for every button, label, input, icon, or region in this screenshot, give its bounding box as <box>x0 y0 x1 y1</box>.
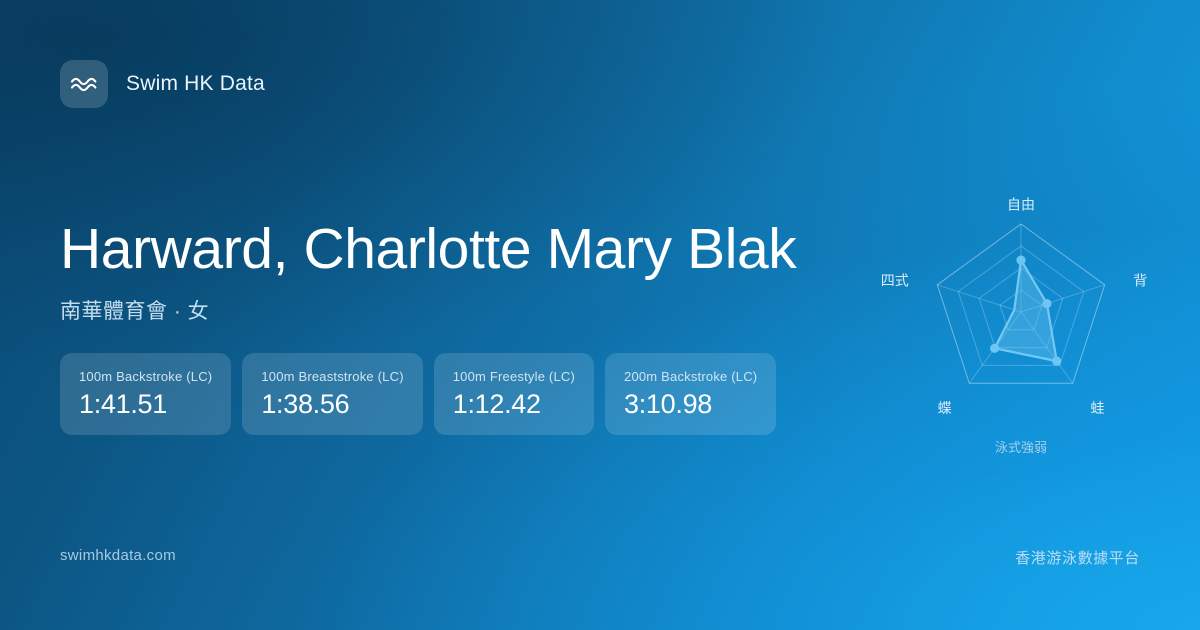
stat-card: 100m Freestyle (LC) 1:12.42 <box>434 353 594 435</box>
radar-data-point <box>1016 255 1025 264</box>
stat-card-label: 100m Freestyle (LC) <box>453 369 575 384</box>
stat-card: 100m Breaststroke (LC) 1:38.56 <box>242 353 422 435</box>
radar-series-area <box>995 260 1057 361</box>
radar-axis-label: 四式 <box>881 273 909 289</box>
stat-card-label: 100m Breaststroke (LC) <box>261 369 403 384</box>
stat-card-label: 200m Backstroke (LC) <box>624 369 757 384</box>
stat-card-value: 1:38.56 <box>261 391 403 418</box>
stat-card-value: 3:10.98 <box>624 391 757 418</box>
radar-caption: 泳式強弱 <box>995 440 1047 455</box>
headline-block: Harward, Charlotte Mary Blak 南華體育會 · 女 <box>60 219 860 325</box>
stat-card: 200m Backstroke (LC) 3:10.98 <box>605 353 776 435</box>
radar-axis-label: 蝶 <box>938 400 952 416</box>
stat-card-list: 100m Backstroke (LC) 1:41.51 100m Breast… <box>60 353 776 435</box>
athlete-meta: 南華體育會 · 女 <box>60 295 860 325</box>
stroke-strength-radar-chart: 自由背蛙蝶四式 泳式強弱 <box>880 165 1170 475</box>
stat-card-value: 1:12.42 <box>453 391 575 418</box>
radar-axis-label: 蛙 <box>1090 400 1104 416</box>
brand-lockup: Swim HK Data <box>60 60 265 108</box>
radar-axis-label: 背 <box>1133 273 1147 289</box>
wave-icon <box>60 60 108 108</box>
share-card: Swim HK Data Harward, Charlotte Mary Bla… <box>0 0 1200 630</box>
radar-data-point <box>990 344 999 353</box>
athlete-name: Harward, Charlotte Mary Blak <box>60 219 860 281</box>
stat-card: 100m Backstroke (LC) 1:41.51 <box>60 353 231 435</box>
footer-tagline: 香港游泳數據平台 <box>1015 547 1140 568</box>
stat-card-label: 100m Backstroke (LC) <box>79 369 212 384</box>
brand-name: Swim HK Data <box>126 72 265 96</box>
radar-data-point <box>1052 357 1061 366</box>
radar-data-point <box>1042 299 1051 308</box>
radar-axis-spoke <box>937 285 1021 312</box>
radar-axis-label: 自由 <box>1007 197 1035 213</box>
stat-card-value: 1:41.51 <box>79 391 212 418</box>
footer-site-url: swimhkdata.com <box>60 547 176 564</box>
